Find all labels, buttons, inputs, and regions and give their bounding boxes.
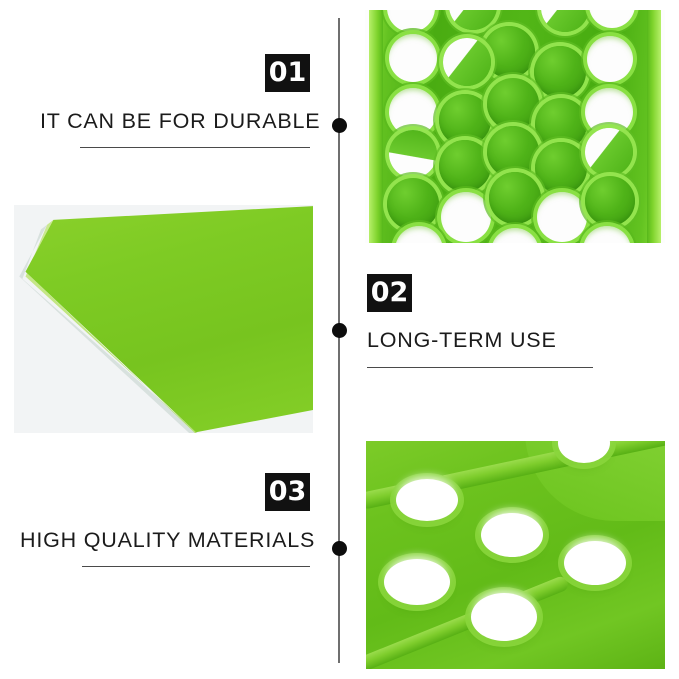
feature-underline-01 [80, 147, 310, 148]
rack-hole [583, 226, 631, 243]
rack-hole [389, 34, 437, 82]
timeline-dot-01 [332, 118, 347, 133]
feature-block-02: 02 LONG-TERM USE [367, 274, 597, 368]
rack-hole [449, 10, 497, 30]
rack-closeup-hole [384, 559, 450, 605]
rack-closeup-hole [396, 479, 458, 521]
rack-hole [443, 38, 491, 86]
mat-surface [14, 205, 313, 433]
rack-hole [387, 178, 439, 230]
rack-closeup-hole [481, 513, 543, 557]
feature-number-badge-01: 01 [265, 54, 310, 92]
rack-hole [589, 10, 635, 28]
product-photo-mat-corner [14, 205, 313, 433]
timeline-dot-02 [332, 323, 347, 338]
timeline-axis [338, 18, 340, 663]
feature-title-01: IT CAN BE FOR DURABLE [40, 109, 310, 134]
feature-number-badge-03: 03 [265, 473, 310, 511]
rack-hole [441, 192, 491, 242]
feature-title-03: HIGH QUALITY MATERIALS [20, 528, 310, 553]
rack-hole [487, 126, 539, 178]
rack-hole [439, 94, 491, 146]
feature-block-01: 01 IT CAN BE FOR DURABLE [40, 54, 310, 148]
rack-hole [585, 128, 633, 176]
infographic-page: 01 IT CAN BE FOR DURABLE 02 LONG-TERM US… [0, 0, 679, 679]
rack-closeup-hole [564, 541, 626, 585]
rack-hole [395, 226, 443, 243]
rack-hole [491, 228, 539, 243]
rack-hole [587, 36, 633, 82]
rack-hole [537, 192, 587, 242]
rack-hole [389, 88, 437, 136]
rack-hole [585, 176, 635, 226]
rack-hole [389, 130, 437, 178]
feature-title-02: LONG-TERM USE [367, 328, 597, 353]
rack-hole [489, 172, 541, 224]
rack-hole [387, 10, 435, 32]
rack-hole [541, 10, 589, 32]
feature-underline-03 [82, 566, 310, 567]
rack-closeup-hole [471, 593, 537, 641]
product-photo-rack-closeup [366, 441, 665, 669]
feature-number-badge-02: 02 [367, 274, 412, 312]
product-photo-rack-grid [365, 10, 665, 243]
rack-hole-grid [371, 10, 659, 243]
timeline-dot-03 [332, 541, 347, 556]
rack-hole [534, 46, 586, 98]
rack-hole [439, 140, 491, 192]
feature-underline-02 [367, 367, 593, 368]
feature-block-03: 03 HIGH QUALITY MATERIALS [20, 473, 310, 567]
rack-hole [535, 142, 587, 194]
rack-hole [483, 26, 535, 78]
rack-hole [487, 78, 539, 130]
